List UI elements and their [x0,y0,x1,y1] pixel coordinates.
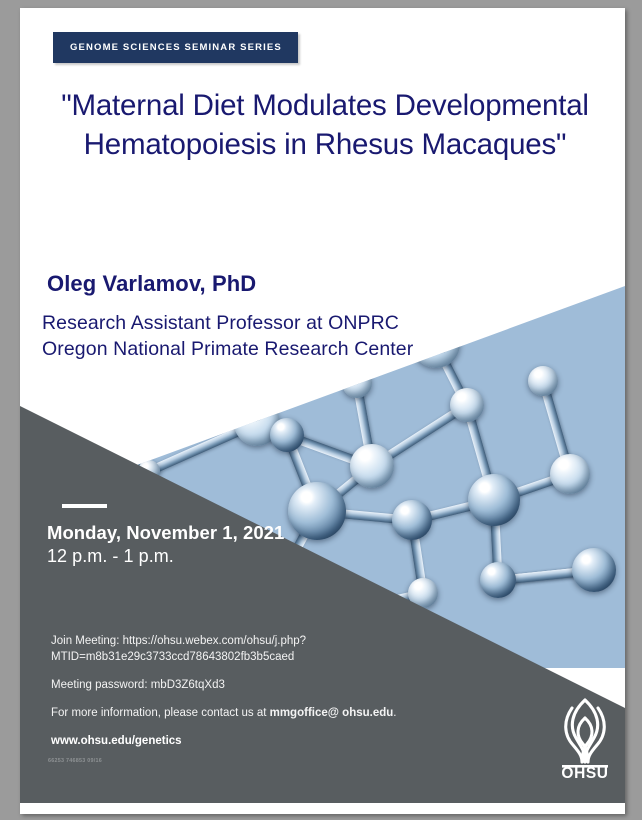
molecule-atom [392,500,432,540]
speaker-affiliation-line-1: Research Assistant Professor at ONPRC [42,311,413,337]
contact-suffix: . [393,707,396,719]
speaker-name: Oleg Varlamov, PhD [47,271,256,297]
contact-email[interactable]: mmgoffice@ ohsu.edu [270,707,394,719]
event-time: 12 p.m. - 1 p.m. [47,546,174,567]
contact-line: For more information, please contact us … [51,707,396,719]
meeting-password: Meeting password: mbD3Z6tqXd3 [51,679,225,691]
molecule-atom [288,482,346,540]
website-link[interactable]: www.ohsu.edu/genetics [51,735,182,747]
molecule-atom [450,388,484,422]
speaker-affiliation-line-2: Oregon National Primate Research Center [42,337,413,363]
contact-prefix: For more information, please contact us … [51,707,270,719]
ohsu-wordmark: OHSU [554,765,616,783]
fineprint-code: 66253 746853 09/16 [48,758,102,764]
page-title: "Maternal Diet Modulates Developmental H… [36,86,614,164]
molecule-atom [480,562,516,598]
join-meeting-link[interactable]: Join Meeting: https://ohsu.webex.com/ohs… [51,634,471,666]
molecule-atom [468,474,520,526]
molecule-atom [528,366,558,396]
document-viewer: GENOME SCIENCES SEMINAR SERIES "Maternal… [0,0,642,820]
molecule-atom [270,418,304,452]
speaker-affiliation: Research Assistant Professor at ONPRC Or… [42,311,413,363]
molecule-atom [572,548,616,592]
event-date: Monday, November 1, 2021 [47,522,284,544]
molecule-atom [350,444,394,488]
flyer-canvas: GENOME SCIENCES SEMINAR SERIES "Maternal… [20,8,625,803]
divider-rule [62,504,107,508]
flyer-page: GENOME SCIENCES SEMINAR SERIES "Maternal… [20,8,625,814]
seminar-series-badge: GENOME SCIENCES SEMINAR SERIES [53,32,298,63]
molecule-atom [550,454,590,494]
